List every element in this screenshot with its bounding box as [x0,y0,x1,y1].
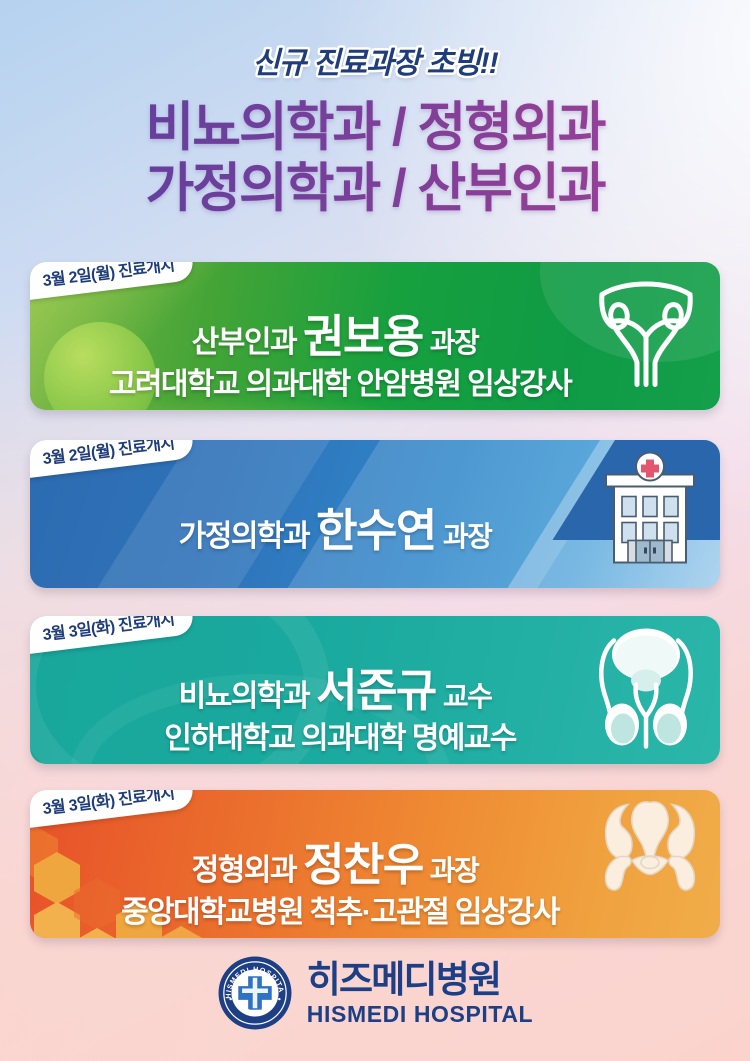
doctor-role: 과장 [430,327,479,358]
doctor-name: 권보용 [303,311,423,362]
department-label: 정형외과 [192,854,296,887]
male-urinary-system-icon [590,625,702,756]
poster-header: 신규 진료과장 초빙!! 비뇨의학과 / 정형외과 가정의학과 / 산부인과 [0,0,750,219]
hismedi-seal-logo: HISMEDI HOSPITAL 히즈메디병원 [217,955,293,1031]
doctor-banner-orthopedics[interactable]: 3월 3일(화) 진료개시 정형외과정찬우과장 중앙대학교병원 척추·고관절 임… [30,790,720,938]
pelvis-bone-icon [598,797,702,902]
doctor-name: 한수연 [316,505,436,556]
doctor-banner-obgyn[interactable]: 3월 2일(월) 진료개시 산부인과권보용과장 고려대학교 의과대학 안암병원 … [30,262,720,410]
doctor-name: 정찬우 [303,839,423,890]
hospital-building-icon [598,453,702,576]
doctor-role: 과장 [443,521,492,552]
department-label: 비뇨의학과 [179,680,310,713]
doctor-banner-urology[interactable]: 3월 3일(화) 진료개시 비뇨의학과서준규교수 인하대학교 의과대학 명예교수 [30,616,720,764]
page-title-line2: 가정의학과 / 산부인과 [0,159,750,218]
doctor-banner-family-medicine[interactable]: 3월 2일(월) 진료개시 가정의학과한수연과장 [30,440,720,588]
doctor-role: 교수 [443,681,492,712]
footer-brand: HISMEDI HOSPITAL 히즈메디병원 히즈메디병원 HISMEDI H… [0,955,750,1031]
brand-name-english: HISMEDI HOSPITAL [307,1003,533,1026]
doctor-role: 과장 [430,855,479,886]
uterus-icon [590,275,702,398]
brand-name-korean: 히즈메디병원 [307,961,533,998]
header-kicker: 신규 진료과장 초빙!! [0,38,750,82]
page-title-line1: 비뇨의학과 / 정형외과 [0,98,750,157]
doctor-name: 서준규 [316,665,436,716]
department-label: 산부인과 [192,326,296,359]
department-label: 가정의학과 [179,520,310,553]
